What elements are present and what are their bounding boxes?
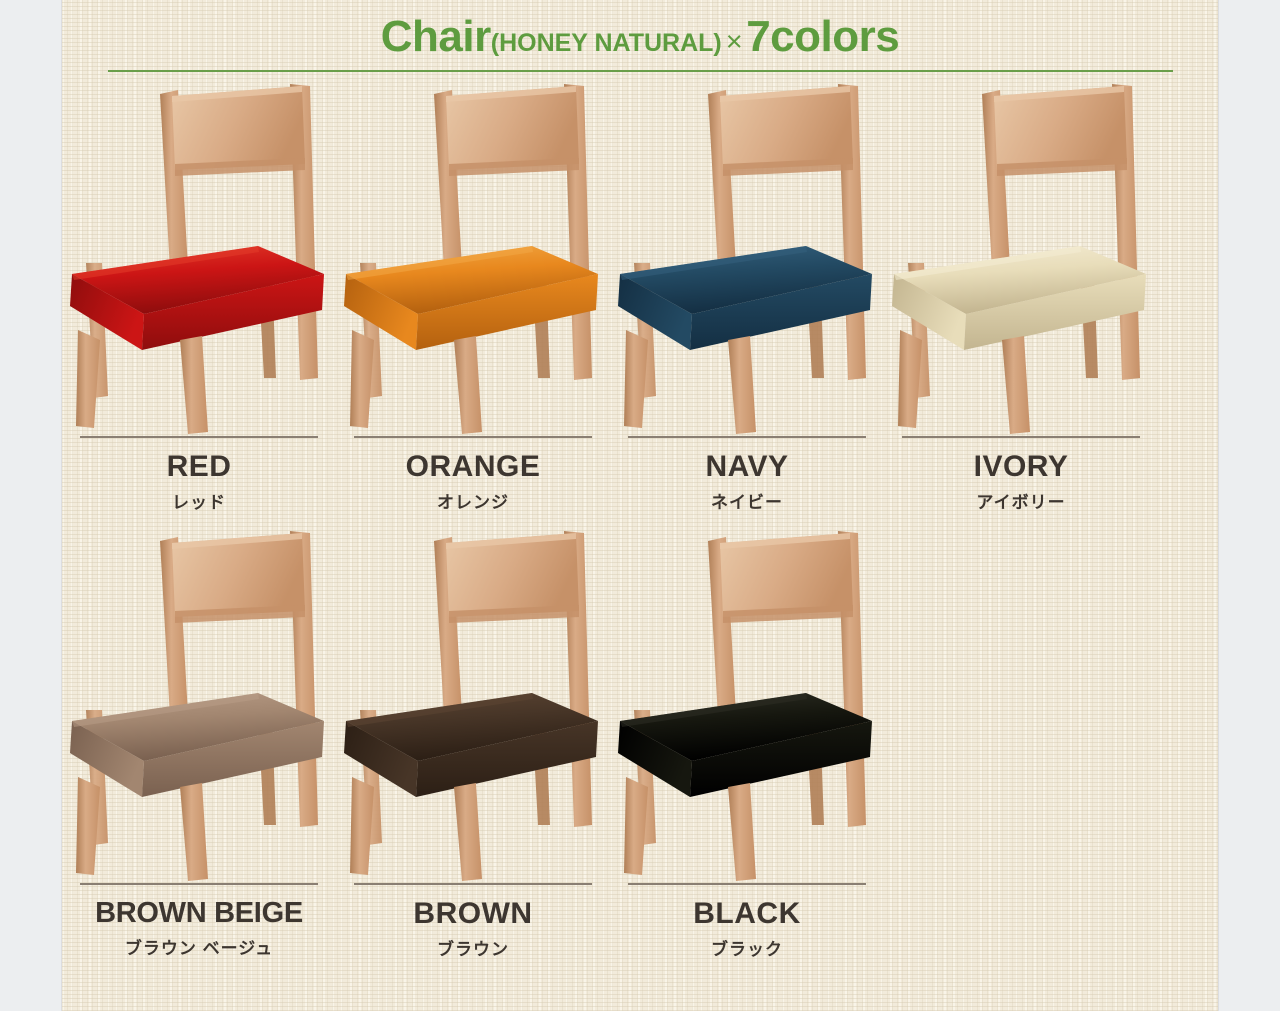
color-name: NAVY: [628, 450, 866, 484]
color-label-block: IVORY アイボリー: [902, 436, 1140, 513]
color-name: RED: [80, 450, 318, 484]
color-label-block: RED レッド: [80, 436, 318, 513]
title-times-icon: ×: [722, 26, 746, 58]
title-finish: (HONEY NATURAL): [491, 29, 722, 57]
color-label-block: BLACK ブラック: [628, 883, 866, 960]
color-row-bottom: BROWN BEIGE ブラウン ベージュ: [62, 525, 1218, 950]
chair-image-brown-beige: [62, 525, 336, 883]
color-name: BROWN BEIGE: [80, 897, 318, 930]
color-name: ORANGE: [354, 450, 592, 484]
color-swatch-ivory[interactable]: IVORY アイボリー: [884, 78, 1158, 498]
label-separator: [80, 436, 318, 438]
title-main: Chair: [381, 12, 491, 61]
chair-illustration: [62, 525, 336, 883]
color-label-block: BROWN BEIGE ブラウン ベージュ: [80, 883, 318, 959]
page-title: Chair(HONEY NATURAL)×7colors: [62, 12, 1218, 62]
header-divider: [108, 70, 1173, 72]
color-name-jp: レッド: [80, 488, 318, 513]
chair-image-ivory: [884, 78, 1158, 436]
chair-image-black: [610, 525, 884, 883]
color-label-block: BROWN ブラウン: [354, 883, 592, 960]
title-color-count: 7colors: [746, 12, 899, 61]
color-swatch-brown-beige[interactable]: BROWN BEIGE ブラウン ベージュ: [62, 525, 336, 950]
label-separator: [354, 883, 592, 885]
chair-image-brown: [336, 525, 610, 883]
chair-illustration: [610, 78, 884, 436]
color-swatch-navy[interactable]: NAVY ネイビー: [610, 78, 884, 498]
color-label-block: ORANGE オレンジ: [354, 436, 592, 513]
color-label-block: NAVY ネイビー: [628, 436, 866, 513]
chair-illustration: [884, 78, 1158, 436]
color-name: BLACK: [628, 897, 866, 931]
chair-illustration: [336, 78, 610, 436]
color-name-jp: ネイビー: [628, 488, 866, 513]
color-swatch-brown[interactable]: BROWN ブラウン: [336, 525, 610, 950]
color-name-jp: ブラウン ベージュ: [80, 934, 318, 959]
page-header: Chair(HONEY NATURAL)×7colors: [62, 0, 1218, 74]
page-root: Chair(HONEY NATURAL)×7colors: [0, 0, 1280, 1011]
label-separator: [628, 883, 866, 885]
color-name-jp: ブラウン: [354, 935, 592, 960]
color-name-jp: オレンジ: [354, 488, 592, 513]
chair-image-orange: [336, 78, 610, 436]
color-name-jp: ブラック: [628, 935, 866, 960]
color-name: IVORY: [902, 450, 1140, 484]
color-swatch-orange[interactable]: ORANGE オレンジ: [336, 78, 610, 498]
color-name-jp: アイボリー: [902, 488, 1140, 513]
content-panel: Chair(HONEY NATURAL)×7colors: [62, 0, 1218, 1011]
chair-illustration: [62, 78, 336, 436]
chair-image-navy: [610, 78, 884, 436]
chair-illustration: [610, 525, 884, 883]
color-row-top: RED レッド: [62, 78, 1218, 498]
color-name: BROWN: [354, 897, 592, 931]
chair-illustration: [336, 525, 610, 883]
label-separator: [354, 436, 592, 438]
chair-image-red: [62, 78, 336, 436]
label-separator: [628, 436, 866, 438]
label-separator: [80, 883, 318, 885]
color-swatch-black[interactable]: BLACK ブラック: [610, 525, 884, 950]
label-separator: [902, 436, 1140, 438]
color-swatch-red[interactable]: RED レッド: [62, 78, 336, 498]
